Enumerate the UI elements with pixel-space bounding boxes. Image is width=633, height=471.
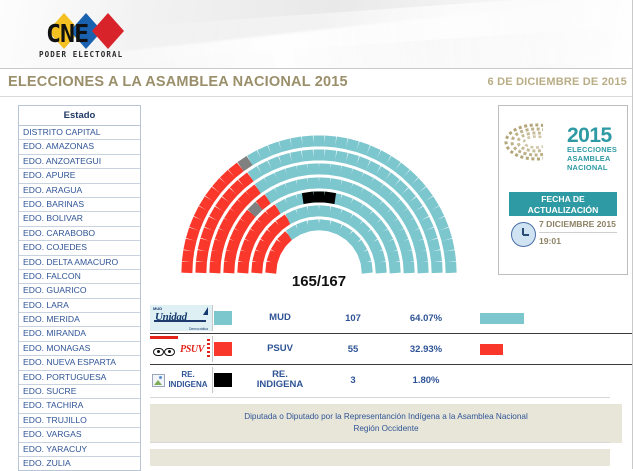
hemicycle-chart: 165/167: [148, 103, 490, 309]
seat: [445, 262, 456, 273]
update-body: 7 DICIEMBRE 2015 19:01: [509, 216, 617, 254]
results-table: MUD Unidad Democrática MUD 107 64.07%: [150, 303, 633, 395]
seat: [324, 192, 336, 204]
sidebar-item-edo-barinas[interactable]: EDO. BARINAS: [19, 198, 140, 212]
sidebar-item-label: EDO. COJEDES: [23, 242, 87, 252]
party-logo-psuv: PSUV: [150, 336, 213, 362]
party-name: RE. INDIGENA: [242, 365, 318, 395]
color-swatch-mud: [214, 311, 232, 325]
footnote-banner-secondary: [150, 449, 610, 466]
seats-counted-label: 165/167: [148, 273, 490, 290]
sidebar-item-edo-zulia[interactable]: EDO. ZULIA: [19, 457, 140, 470]
seat: [302, 192, 314, 204]
sidebar-item-label: EDO. PORTUGUESA: [23, 372, 106, 382]
sidebar-item-label: EDO. DELTA AMACURO: [23, 257, 118, 267]
sidebar-item-edo-cojedes[interactable]: EDO. COJEDES: [19, 241, 140, 255]
party-seats: 3: [322, 365, 384, 395]
seat: [335, 137, 348, 150]
table-row[interactable]: PSUV PSUV 55 32.93%: [150, 334, 633, 365]
seat: [302, 150, 314, 162]
site-banner: CNE PODER ELECTORAL: [0, 0, 633, 69]
seat: [444, 250, 456, 262]
eye-icon: [164, 348, 175, 356]
divider: [150, 442, 610, 443]
sidebar-item-edo-amazonas[interactable]: EDO. AMAZONAS: [19, 140, 140, 154]
seat: [302, 136, 314, 148]
main-content: Estado DISTRITO CAPITALEDO. AMAZONASEDO.…: [0, 97, 633, 469]
election-logo: 2015 ELECCIONES ASAMBLEA NACIONAL: [499, 106, 627, 198]
sidebar-item-label: EDO. AMAZONAS: [23, 141, 94, 151]
seat: [308, 205, 320, 217]
eye-icon: [153, 348, 164, 356]
sidebar-item-label: EDO. ANZOATEGUI: [23, 156, 101, 166]
seat: [296, 178, 309, 191]
sidebar-item-label: DISTRITO CAPITAL: [23, 127, 101, 137]
sidebar-item-edo-falcon[interactable]: EDO. FALCON: [19, 270, 140, 284]
sidebar-item-edo-yaracuy[interactable]: EDO. YARACUY: [19, 443, 140, 457]
seat: [417, 262, 429, 274]
seat: [209, 262, 221, 274]
sidebar-item-label: EDO. ZULIA: [23, 458, 71, 468]
seat: [319, 177, 331, 189]
sidebar-item-edo-vargas[interactable]: EDO. VARGAS: [19, 428, 140, 442]
seat: [223, 262, 235, 274]
sidebar-item-edo-aragua[interactable]: EDO. ARAGUA: [19, 184, 140, 198]
sidebar-item-label: EDO. VARGAS: [23, 429, 82, 439]
seat: [387, 250, 400, 263]
sidebar-item-edo-trujillo[interactable]: EDO. TRUJILLO: [19, 414, 140, 428]
color-swatch-psuv: [214, 342, 232, 356]
seat: [314, 136, 325, 147]
sidebar-item-edo-guarico[interactable]: EDO. GUARICO: [19, 284, 140, 298]
sidebar-item-label: EDO. GUARICO: [23, 285, 87, 295]
sidebar-item-label: EDO. ARAGUA: [23, 185, 82, 195]
party-name: PSUV: [242, 334, 318, 364]
seat: [181, 262, 192, 273]
indigena-logo-label: RE. INDIGENA: [164, 370, 212, 390]
seat: [318, 205, 330, 217]
seat: [361, 262, 373, 274]
seat: [442, 239, 455, 252]
page-root: CNE PODER ELECTORAL ELECCIONES A LA ASAM…: [0, 0, 633, 469]
party-percent: 32.93%: [390, 334, 462, 364]
sidebar-item-edo-lara[interactable]: EDO. LARA: [19, 299, 140, 313]
sidebar-item-edo-monagas[interactable]: EDO. MONAGAS: [19, 342, 140, 356]
check-icon: [203, 307, 208, 315]
seat: [308, 219, 320, 231]
sidebar-item-edo-delta-amacuro[interactable]: EDO. DELTA AMACURO: [19, 256, 140, 270]
party-bar-track: [480, 334, 630, 364]
footnote-banner: Diputada o Diputado por la Representanci…: [150, 404, 622, 443]
sidebar-item-label: EDO. FALCON: [23, 271, 81, 281]
page-title: ELECCIONES A LA ASAMBLEA NACIONAL 2015: [8, 74, 348, 90]
seat: [403, 262, 415, 274]
seat: [290, 137, 303, 150]
table-row[interactable]: RE. INDIGENA RE. INDIGENA 3 1.80%: [150, 365, 633, 395]
update-time: 19:01: [539, 236, 561, 246]
sidebar-item-label: EDO. TACHIRA: [23, 400, 83, 410]
seat: [324, 150, 336, 162]
page-title-bar: ELECCIONES A LA ASAMBLEA NACIONAL 2015 6…: [0, 69, 633, 97]
clock-icon: [511, 222, 536, 247]
seat: [237, 262, 249, 274]
indigena-logo-line2: INDIGENA: [168, 380, 207, 389]
table-row[interactable]: MUD Unidad Democrática MUD 107 64.07%: [150, 303, 633, 334]
sidebar-item-edo-bolivar[interactable]: EDO. BOLIVAR: [19, 212, 140, 226]
election-logo-subtitle: ELECCIONES ASAMBLEA NACIONAL: [567, 146, 617, 173]
cne-logo[interactable]: CNE PODER ELECTORAL: [26, 9, 138, 61]
sidebar-item-edo-anzoategui[interactable]: EDO. ANZOATEGUI: [19, 155, 140, 169]
party-percent: 64.07%: [390, 303, 462, 333]
sidebar-item-edo-apure[interactable]: EDO. APURE: [19, 169, 140, 183]
footnote-line1: Diputada o Diputado por la Representanci…: [244, 412, 528, 421]
indigena-logo-line1: RE.: [181, 370, 194, 379]
party-bar-fill: [480, 344, 503, 355]
mud-logo-sub: Democrática: [189, 327, 208, 331]
party-logo-mud: MUD Unidad Democrática: [150, 305, 213, 331]
update-header-line1: FECHA DE: [541, 194, 585, 205]
sidebar-item-label: EDO. BOLIVAR: [23, 213, 83, 223]
party-name-line2: INDIGENA: [257, 379, 303, 390]
sidebar-item-label: EDO. MONAGAS: [23, 343, 90, 353]
party-seats: 107: [322, 303, 384, 333]
party-seats: 55: [322, 334, 384, 364]
sidebar-item-edo-miranda[interactable]: EDO. MIRANDA: [19, 327, 140, 341]
seat: [308, 177, 320, 189]
update-header: FECHA DE ACTUALIZACIÓN: [509, 192, 617, 216]
swirl-icon: [503, 116, 569, 168]
update-header-line2: ACTUALIZACIÓN: [528, 205, 599, 216]
hemicycle-seats: [148, 103, 490, 281]
sidebar-item-label: EDO. MIRANDA: [23, 328, 86, 338]
sidebar-item-label: EDO. SUCRE: [23, 386, 76, 396]
psuv-logo-text: PSUV: [180, 344, 204, 355]
seat: [196, 250, 208, 262]
mud-logo-underline: [154, 320, 206, 322]
seat: [401, 250, 414, 263]
seat: [335, 151, 348, 164]
seat: [375, 262, 387, 274]
divider: [150, 397, 610, 398]
seat: [415, 250, 428, 263]
seat: [195, 262, 207, 274]
party-bar-track: [480, 365, 630, 395]
party-bar-fill: [480, 313, 524, 324]
footnote-line2: Región Occidente: [353, 424, 418, 433]
seat: [430, 250, 442, 262]
update-date: 7 DICIEMBRE 2015: [539, 219, 617, 233]
seat: [431, 262, 443, 274]
sidebar-item-edo-nueva-esparta[interactable]: EDO. NUEVA ESPARTA: [19, 356, 140, 370]
seat: [319, 163, 331, 175]
seat: [251, 262, 263, 274]
seat: [290, 151, 303, 164]
psuv-stripes: [207, 339, 210, 359]
seat: [389, 262, 401, 274]
cne-tagline: PODER ELECTORAL: [39, 50, 123, 59]
sidebar-item-edo-carabobo[interactable]: EDO. CARABOBO: [19, 227, 140, 241]
state-list-header: Estado: [19, 106, 140, 126]
state-list-body: DISTRITO CAPITALEDO. AMAZONASEDO. ANZOAT…: [19, 126, 140, 470]
color-swatch-indigena: [214, 373, 232, 387]
sidebar-item-label: EDO. TRUJILLO: [23, 415, 87, 425]
sidebar-item-label: EDO. MERIDA: [23, 314, 80, 324]
sidebar-item-edo-portuguesa[interactable]: EDO. PORTUGUESA: [19, 371, 140, 385]
sidebar-item-label: EDO. CARABOBO: [23, 228, 95, 238]
sidebar-item-label: EDO. LARA: [23, 300, 69, 310]
seat: [296, 164, 309, 177]
party-percent: 1.80%: [390, 365, 462, 395]
seat: [324, 136, 336, 148]
info-panel: 2015 ELECCIONES ASAMBLEA NACIONAL FECHA …: [498, 105, 628, 275]
sidebar-item-label: EDO. BARINAS: [23, 199, 84, 209]
sidebar-item-edo-sucre[interactable]: EDO. SUCRE: [19, 385, 140, 399]
seat: [308, 163, 320, 175]
sidebar-item-label: EDO. NUEVA ESPARTA: [23, 357, 116, 367]
sidebar-item-label: EDO. YARACUY: [23, 444, 87, 454]
party-bar-track: [480, 303, 630, 333]
state-list: Estado DISTRITO CAPITALEDO. AMAZONASEDO.…: [18, 105, 141, 471]
election-logo-line1: ELECCIONES: [567, 145, 617, 154]
sidebar-item-edo-merida[interactable]: EDO. MERIDA: [19, 313, 140, 327]
sidebar-item-label: EDO. APURE: [23, 170, 76, 180]
sidebar-item-distrito-capital[interactable]: DISTRITO CAPITAL: [19, 126, 140, 140]
cne-wordmark: CNE: [46, 21, 88, 46]
sidebar-item-edo-tachira[interactable]: EDO. TACHIRA: [19, 399, 140, 413]
party-name: MUD: [242, 303, 318, 333]
election-date: 6 DE DICIEMBRE DE 2015: [488, 76, 628, 88]
seat: [314, 192, 325, 203]
seat: [182, 250, 194, 262]
seat: [314, 150, 325, 161]
party-logo-indigena: RE. INDIGENA: [150, 367, 213, 393]
election-logo-line2: ASAMBLEA: [567, 154, 610, 163]
election-logo-line3: NACIONAL: [567, 163, 608, 172]
